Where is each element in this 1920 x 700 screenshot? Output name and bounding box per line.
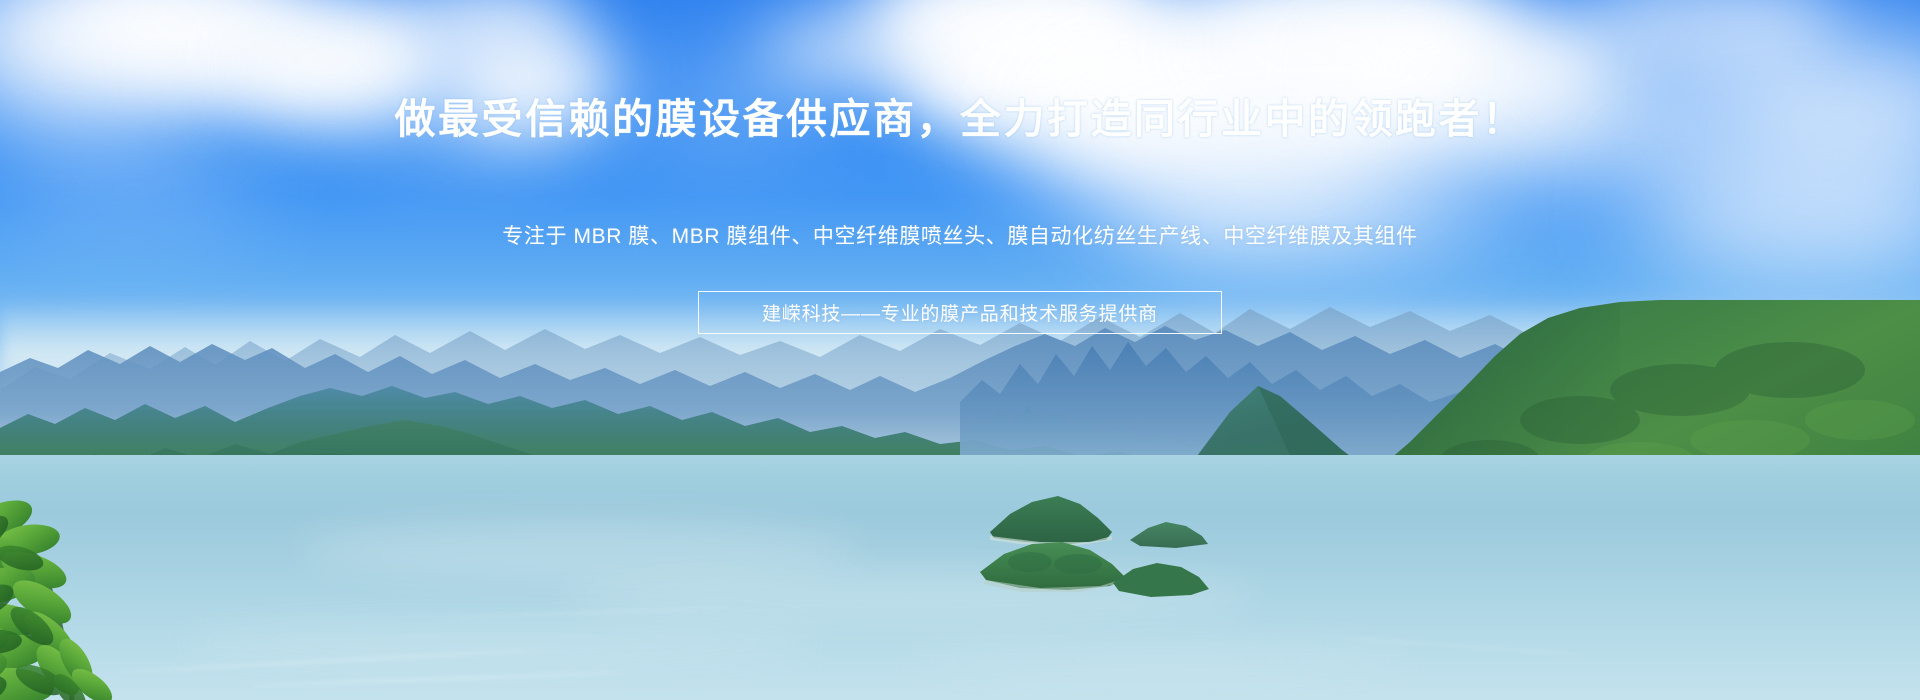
page-title: 做最受信赖的膜设备供应商，全力打造同行业中的领跑者！ bbox=[0, 99, 1920, 140]
hero-banner: 做最受信赖的膜设备供应商，全力打造同行业中的领跑者！ 专注于 MBR 膜、MBR… bbox=[0, 0, 1920, 700]
lake-island-small bbox=[1095, 545, 1275, 605]
tagline-text: 建嵘科技——专业的膜产品和技术服务提供商 bbox=[762, 299, 1158, 326]
page-subtitle: 专注于 MBR 膜、MBR 膜组件、中空纤维膜喷丝头、膜自动化纺丝生产线、中空纤… bbox=[0, 226, 1920, 247]
foreground-foliage bbox=[0, 430, 280, 700]
tagline-box: 建嵘科技——专业的膜产品和技术服务提供商 bbox=[698, 291, 1222, 334]
